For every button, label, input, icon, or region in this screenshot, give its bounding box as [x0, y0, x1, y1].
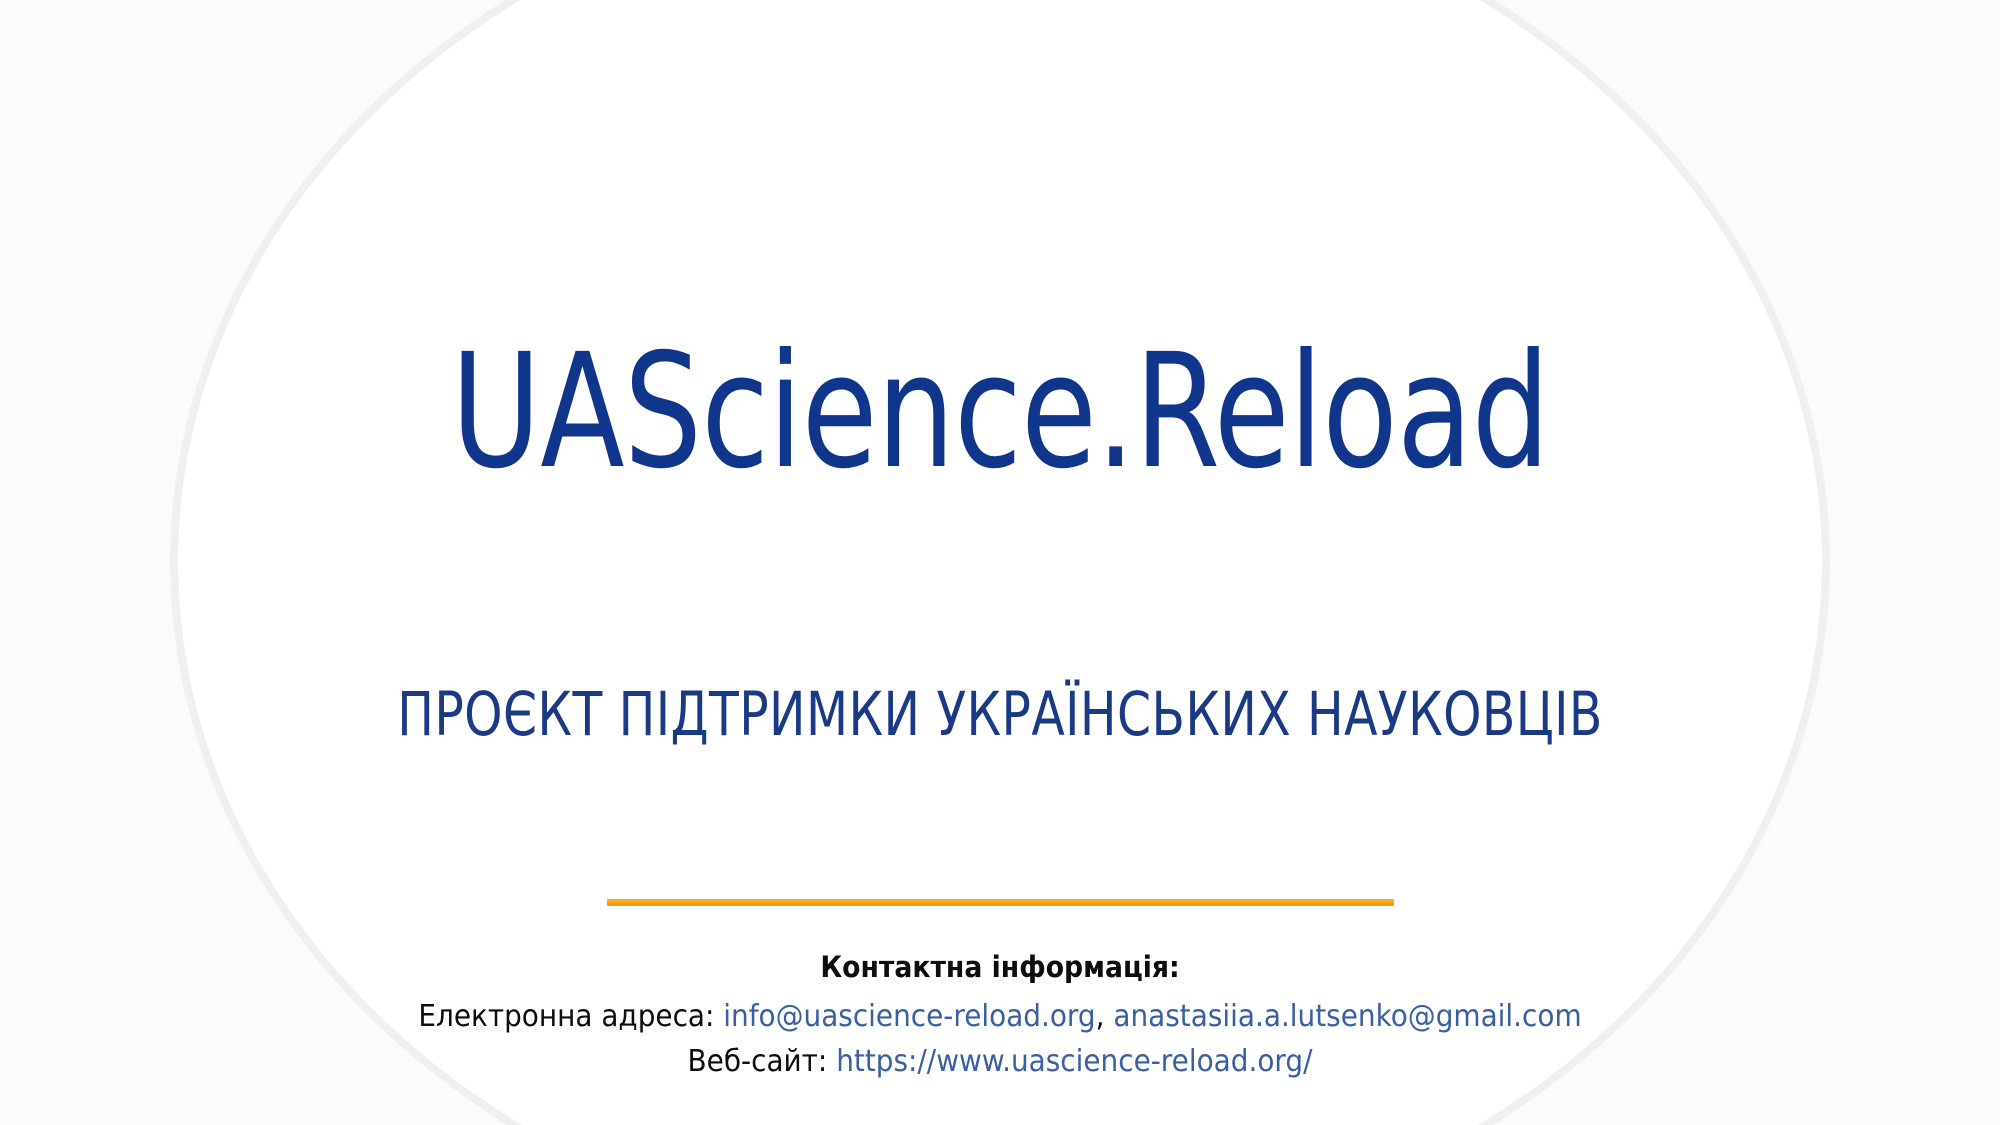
- email-link-primary[interactable]: info@uascience-reload.org: [723, 999, 1095, 1034]
- website-link[interactable]: https://www.uascience-reload.org/: [836, 1044, 1312, 1079]
- page-subtitle: ПРОЄКТ ПІДТРИМКИ УКРАЇНСЬКИХ НАУКОВЦІВ: [200, 681, 1800, 748]
- contact-heading: Контактна інформація:: [80, 950, 1920, 985]
- contact-email-line: Електронна адреса: info@uascience-reload…: [70, 997, 1930, 1037]
- divider-wrapper: [0, 899, 2000, 906]
- slide-canvas: UAScience.Reload ПРОЄКТ ПІДТРИМКИ УКРАЇН…: [0, 0, 2000, 1125]
- contact-website-line: Веб-сайт: https://www.uascience-reload.o…: [70, 1042, 1930, 1082]
- title-block: UAScience.Reload: [0, 330, 2000, 496]
- slide-content: UAScience.Reload ПРОЄКТ ПІДТРИМКИ УКРАЇН…: [0, 0, 2000, 1125]
- contact-info-block: Контактна інформація: Електронна адреса:…: [0, 950, 2000, 1082]
- email-label: Електронна адреса:: [418, 999, 714, 1034]
- orange-divider-rule: [607, 899, 1394, 906]
- website-label: Веб-сайт:: [688, 1044, 828, 1079]
- subtitle-block: ПРОЄКТ ПІДТРИМКИ УКРАЇНСЬКИХ НАУКОВЦІВ: [0, 681, 2000, 748]
- email-link-secondary[interactable]: anastasiia.a.lutsenko@gmail.com: [1113, 999, 1581, 1034]
- page-title: UAScience.Reload: [220, 330, 1780, 496]
